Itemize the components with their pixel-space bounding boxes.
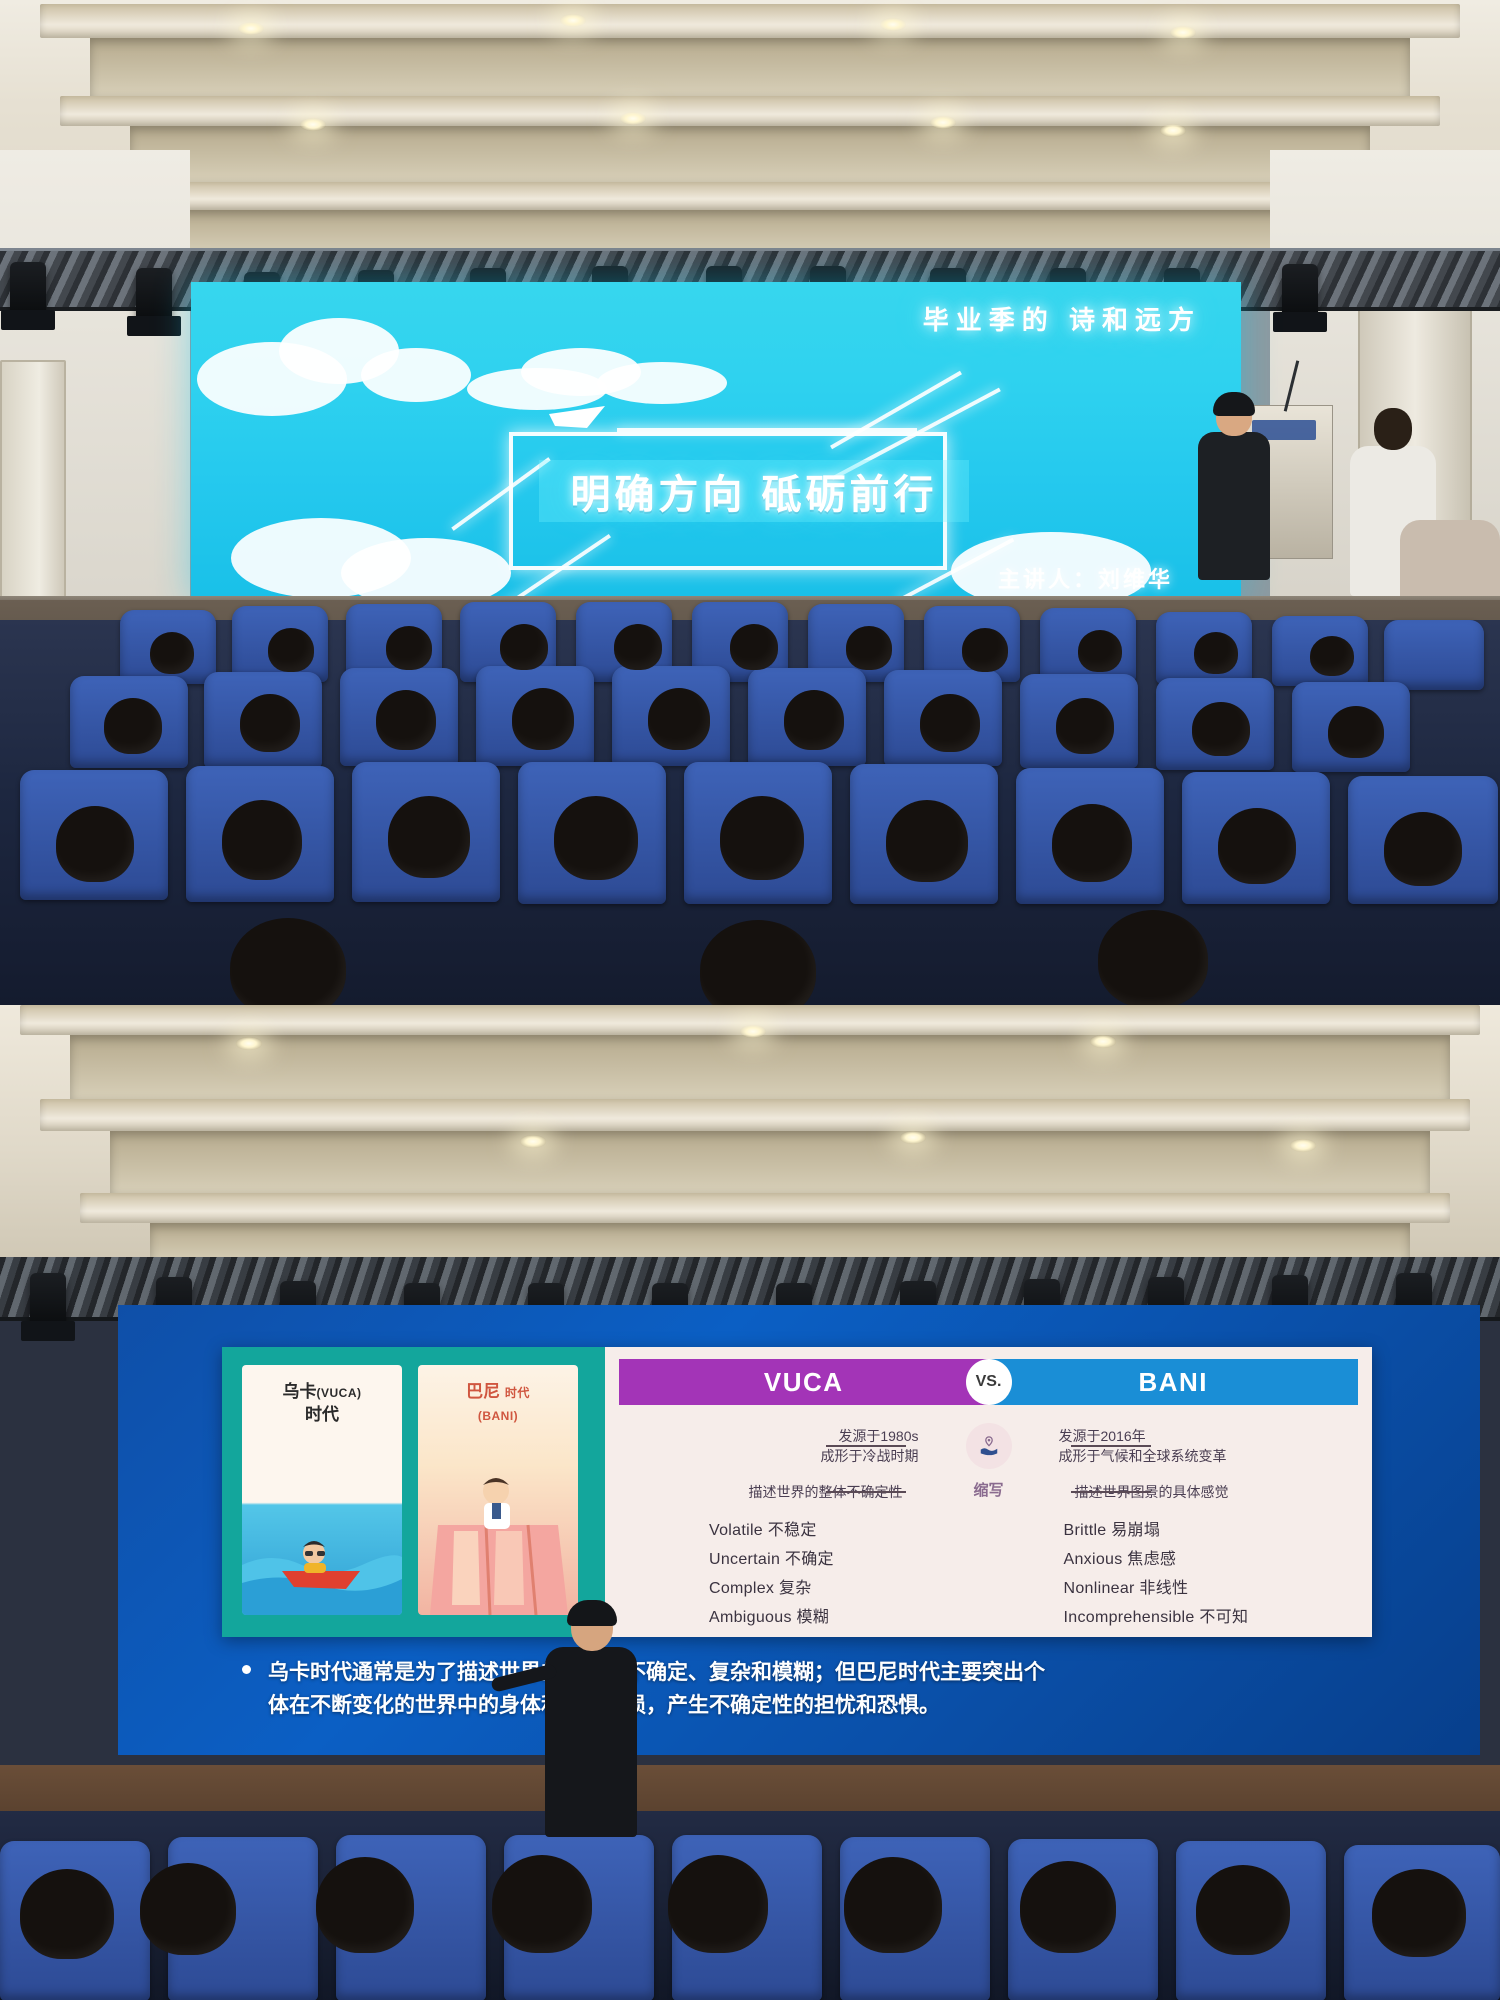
ceiling-coffer <box>110 1131 1430 1193</box>
abbrev-right: 描述世界图景的具体感觉 <box>989 1482 1359 1502</box>
audience-head <box>1056 698 1114 754</box>
auditorium-seat <box>1384 620 1484 690</box>
vuca-header-label: VUCA <box>764 1367 844 1398</box>
audience-head <box>1218 808 1296 884</box>
list-item: Nonlinear 非线性 <box>1064 1574 1359 1598</box>
audience-head <box>1192 702 1250 756</box>
bani-card-main: 巴尼 <box>466 1382 500 1401</box>
bullet-line-1: 乌卡时代通常是为了描述世界的波动、不确定、复杂和模糊；但巴尼时代主要突出个 <box>268 1661 1045 1684</box>
led-screen-photo-2: 乌卡(VUCA) 时代 <box>118 1305 1480 1755</box>
audience-head <box>376 690 436 750</box>
boy-on-boat-illustration <box>242 1495 402 1615</box>
ceiling-light <box>238 22 264 35</box>
audience-head <box>20 1869 114 1959</box>
ceiling-light <box>930 116 956 129</box>
presenter-hair <box>567 1600 617 1626</box>
audience-head <box>700 920 816 1005</box>
audience-head <box>512 688 574 750</box>
bani-card-title: 巴尼 时代 (BANI) <box>418 1381 578 1427</box>
origin-left-line2: 成形于冷战时期 <box>821 1448 919 1464</box>
audience-head <box>1372 1869 1466 1957</box>
ceiling-light <box>620 112 646 125</box>
audience-head <box>104 698 162 754</box>
audience-head <box>500 624 548 670</box>
audience-head <box>1194 632 1238 674</box>
abbrev-label: 缩写 <box>973 1479 1003 1500</box>
abbrev-left: 描述世界的整体不确定性 <box>619 1482 989 1502</box>
audience-head <box>240 694 300 752</box>
bani-card-sub: 时代 <box>505 1386 530 1400</box>
audience-head <box>1052 804 1132 882</box>
slide-left-illustration-card: 乌卡(VUCA) 时代 <box>222 1347 605 1637</box>
audience-head <box>1384 812 1462 886</box>
audience-head <box>268 628 314 672</box>
bani-term-list: Brittle 易崩塌 Anxious 焦虑感 Nonlinear 非线性 In… <box>1004 1513 1359 1629</box>
ceiling-light <box>900 1131 926 1144</box>
screenshot-root: 毕业季的 诗和远方 明确方向 砥砺前行 主讲人：刘维华 <box>0 0 1500 2000</box>
audience-head <box>886 800 968 882</box>
globe-pin-icon <box>966 1423 1012 1469</box>
led-screen-photo-1: 毕业季的 诗和远方 明确方向 砥砺前行 主讲人：刘维华 <box>191 282 1241 600</box>
list-item: Uncertain 不确定 <box>709 1545 1004 1569</box>
ceiling-light <box>520 1135 546 1148</box>
list-item: Complex 复杂 <box>709 1574 1004 1598</box>
ceiling-light <box>560 14 586 27</box>
origin-right: 发源于2016年 成形于气候和全球系统变革 <box>989 1426 1359 1467</box>
arrow-left <box>826 1445 906 1447</box>
arrow-right <box>1071 1445 1151 1447</box>
audience-head <box>316 1857 414 1953</box>
presenter-body <box>545 1647 637 1837</box>
ceiling-beam <box>80 1193 1450 1223</box>
vs-badge: VS. <box>966 1359 1012 1405</box>
origin-left: 发源于1980s 成形于冷战时期 <box>619 1426 989 1467</box>
slide-content-image: 乌卡(VUCA) 时代 <box>222 1347 1372 1637</box>
audience-head <box>1078 630 1122 672</box>
audience-head <box>730 624 778 670</box>
audience-head <box>492 1855 592 1953</box>
abbrev-row: 描述世界的整体不确定性 描述世界图景的具体感觉 缩写 <box>619 1477 1358 1507</box>
audience-head <box>668 1855 768 1953</box>
bani-card-paren: (BANI) <box>478 1409 518 1423</box>
ceiling-coffer <box>90 38 1410 96</box>
audience-head <box>150 632 194 674</box>
vuca-card-sub: 时代 <box>305 1405 339 1424</box>
audience-head <box>1196 1865 1290 1955</box>
origin-right-line1: 发源于2016年 <box>1059 1428 1146 1444</box>
vuca-card-paren: (VUCA) <box>317 1386 362 1400</box>
ceiling-beam <box>40 1099 1470 1131</box>
list-item: Incomprehensible 不可知 <box>1064 1603 1359 1627</box>
list-item: Brittle 易崩塌 <box>1064 1516 1359 1540</box>
vuca-header: VUCA <box>619 1359 989 1405</box>
presenter-body <box>1198 432 1270 580</box>
audience-head <box>388 796 470 878</box>
audience-head <box>846 626 892 670</box>
slide-speaker-line: 主讲人：刘维华 <box>998 562 1173 594</box>
audience-photo-2 <box>0 1811 1500 2000</box>
audience-head <box>140 1863 236 1955</box>
presenter-photo-1 <box>1196 396 1270 576</box>
bani-header: BANI <box>989 1359 1359 1405</box>
origin-right-line2: 成形于气候和全球系统变革 <box>1059 1448 1227 1464</box>
audience-head <box>230 918 346 1005</box>
ceiling-light <box>300 118 326 131</box>
audience-head <box>844 1857 942 1953</box>
audience-head <box>1020 1861 1116 1953</box>
vuca-illustration-card: 乌卡(VUCA) 时代 <box>242 1365 402 1615</box>
globe-pin-glyph <box>978 1435 1000 1457</box>
audience-head <box>222 800 302 880</box>
presenter-photo-2 <box>545 1605 637 1835</box>
audience-head <box>962 628 1008 672</box>
cloud-shape <box>361 348 471 402</box>
stage-light <box>10 262 46 314</box>
stage-light <box>30 1273 66 1325</box>
man-on-cracked-ground-illustration <box>418 1465 578 1615</box>
audience-head <box>614 624 662 670</box>
ceiling-light <box>740 1025 766 1038</box>
cloud-shape <box>597 362 727 404</box>
audience-photo-1 <box>0 620 1500 1005</box>
list-item: Volatile 不稳定 <box>709 1516 1004 1540</box>
audience-head <box>1098 910 1208 1005</box>
origin-row: 发源于1980s 成形于冷战时期 发源于2016年 成形于气候和全球系统变革 <box>619 1417 1358 1475</box>
vuca-term-list: Volatile 不稳定 Uncertain 不确定 Complex 复杂 Am… <box>619 1513 1004 1629</box>
audience-head <box>56 806 134 882</box>
slide-main-title: 明确方向 砥砺前行 <box>570 462 937 520</box>
ceiling-light <box>1090 1035 1116 1048</box>
ceiling-beam <box>100 182 1410 210</box>
bullet-marker <box>242 1665 251 1674</box>
ceiling-light <box>880 18 906 31</box>
ceiling-light <box>1160 124 1186 137</box>
arrow-left <box>826 1491 906 1493</box>
origin-left-line1: 发源于1980s <box>838 1428 918 1444</box>
audience-head <box>386 626 432 670</box>
paper-boat-icon <box>547 402 607 428</box>
audience-head <box>1328 706 1384 758</box>
audience-head <box>920 694 980 752</box>
presenter-hair <box>1213 392 1255 416</box>
slide-top-line: 毕业季的 诗和远方 <box>923 300 1201 337</box>
audience-head <box>720 796 804 880</box>
list-item: Anxious 焦虑感 <box>1064 1545 1359 1569</box>
ceiling-coffer <box>70 1035 1450 1099</box>
ceiling-light <box>1170 26 1196 39</box>
title-band: 明确方向 砥砺前行 <box>539 460 969 522</box>
audience-head <box>648 688 710 750</box>
cloud-shape <box>341 538 511 600</box>
stage-light <box>136 268 172 320</box>
arrow-right <box>1071 1491 1151 1493</box>
bani-header-label: BANI <box>1138 1367 1208 1398</box>
ceiling-light <box>236 1037 262 1050</box>
bani-illustration-card: 巴尼 时代 (BANI) <box>418 1365 578 1615</box>
ceiling-coffer <box>130 126 1370 182</box>
audience-head <box>554 796 638 880</box>
audience-head <box>1310 636 1354 676</box>
assistant-head <box>1374 408 1412 450</box>
ceiling-beam <box>60 96 1440 126</box>
ceiling-light <box>1290 1139 1316 1152</box>
slide-bullet-text: 乌卡时代通常是为了描述世界的波动、不确定、复杂和模糊；但巴尼时代主要突出个 体在… <box>268 1657 1440 1722</box>
stage-light <box>1282 264 1318 316</box>
audience-head <box>784 690 844 750</box>
photo-2-vuca-bani-slide: 乌卡(VUCA) 时代 <box>0 1005 1500 2000</box>
comparison-pane: VUCA BANI VS. 发源于1980s 成形于冷战时期 发源 <box>605 1347 1372 1637</box>
vuca-card-title: 乌卡(VUCA) 时代 <box>242 1381 402 1427</box>
list-item: Ambiguous 模糊 <box>709 1603 1004 1627</box>
vuca-card-main: 乌卡 <box>283 1382 317 1401</box>
photo-1-opening-slide: 毕业季的 诗和远方 明确方向 砥砺前行 主讲人：刘维华 <box>0 0 1500 1005</box>
term-lists: Volatile 不稳定 Uncertain 不确定 Complex 复杂 Am… <box>619 1513 1358 1629</box>
